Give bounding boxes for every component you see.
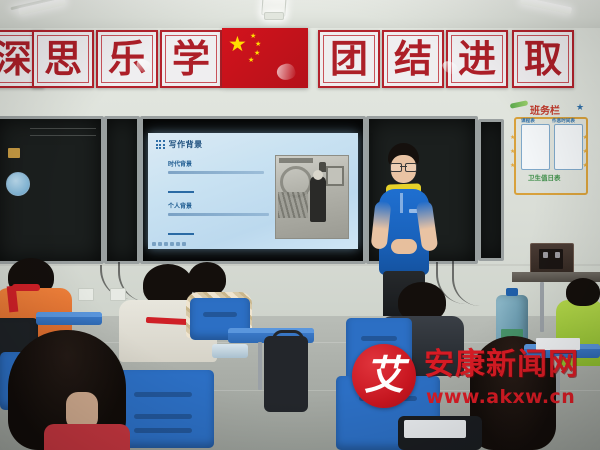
slogan-char-si: 思	[34, 32, 92, 86]
board-card	[554, 124, 583, 170]
slide-illustration	[275, 155, 349, 239]
slogan-char-xue: 学	[162, 32, 220, 86]
slogan-panel-4: 学	[160, 30, 222, 88]
slide-header: 写作背景	[156, 139, 203, 150]
desk-leg	[258, 342, 262, 390]
board-title: 班务栏	[530, 102, 560, 117]
illustration-caption	[279, 158, 313, 163]
grid-dots-icon	[156, 140, 165, 149]
table-leg	[540, 282, 544, 332]
slide-section-1: 时代背景	[168, 159, 280, 171]
blackboard-panel	[478, 119, 504, 261]
slogan-char-jie: 结	[384, 32, 442, 86]
illustration-figure-head	[313, 170, 323, 180]
watermark-site-name: 安康新闻网	[424, 350, 579, 380]
desk	[36, 312, 102, 325]
board-star-icon: ★	[583, 134, 588, 141]
board-star-icon: ★	[583, 148, 588, 155]
chinese-flag: ★ ★ ★ ★ ★	[222, 28, 308, 88]
wall-outlet	[110, 288, 126, 301]
shirt-placket	[400, 193, 403, 213]
section-divider	[168, 191, 194, 193]
section-text-line	[168, 213, 269, 216]
flag-star-small: ★	[248, 57, 254, 64]
duty-schedule-label: 卫生值日表	[528, 172, 561, 182]
slide-toolbar[interactable]	[152, 242, 186, 246]
desk-item	[212, 344, 248, 358]
toolbar-icon[interactable]	[182, 242, 186, 246]
red-scarf	[12, 284, 40, 291]
flag-star-small: ★	[250, 33, 256, 40]
slide-content: 写作背景 时代背景 个人背景	[148, 133, 358, 249]
wall-emblem-icon	[6, 172, 30, 196]
illustration-figure	[310, 176, 326, 222]
slogan-panel-7: 进	[446, 30, 508, 88]
class-duty-board: 班务栏 课程表 作息时间表 卫生值日表 ★ ★ ★ ★ ★ ★	[508, 100, 590, 218]
watermark-logo-glyph: 艾	[352, 344, 416, 408]
toolbar-icon[interactable]	[176, 242, 180, 246]
toolbar-icon[interactable]	[152, 242, 156, 246]
slogan-panel-5: 团	[318, 30, 380, 88]
ceiling-light-tube	[520, 0, 572, 14]
flag-star-small: ★	[255, 41, 261, 48]
dispenser-button[interactable]	[543, 252, 548, 258]
board-star-icon: ★	[510, 148, 515, 155]
slogan-panel-8: 取	[512, 30, 574, 88]
eyeglasses-icon	[390, 163, 417, 170]
ceiling	[0, 0, 600, 30]
wall-seam	[0, 264, 600, 266]
teacher-hands	[391, 239, 417, 254]
student-head	[566, 278, 600, 306]
slogan-char-qu: 取	[514, 32, 572, 86]
section-heading: 个人背景	[168, 201, 280, 210]
illustration-crowd	[278, 192, 308, 218]
slogan-panel-2: 思	[32, 30, 94, 88]
board-star-icon: ★	[510, 134, 515, 141]
slide-section-2: 个人背景	[168, 201, 280, 213]
watermark-url: www.akxw.cn	[426, 386, 575, 408]
toolbar-icon[interactable]	[170, 242, 174, 246]
student-head	[188, 262, 226, 296]
glare-reflection	[275, 61, 297, 82]
backpack-strap	[272, 330, 304, 350]
toolbar-icon[interactable]	[164, 242, 168, 246]
slogan-panel-6: 结	[382, 30, 444, 88]
section-heading: 时代背景	[168, 159, 280, 168]
wall-sticker	[8, 148, 20, 158]
notebook	[404, 420, 466, 438]
section-text-line	[168, 171, 264, 174]
slogan-char-tuan: 团	[320, 32, 378, 86]
ceiling-light-pendant-base	[264, 12, 284, 20]
board-star-icon: ★	[583, 162, 588, 169]
watermark: 艾 安康新闻网 www.akxw.cn	[352, 340, 596, 416]
slogan-char-jin: 进	[448, 32, 506, 86]
flag-star-large: ★	[228, 34, 247, 55]
student-red-top	[44, 424, 130, 450]
slide-title: 写作背景	[169, 139, 203, 150]
slogan-panel-3: 乐	[96, 30, 158, 88]
board-card	[521, 124, 550, 170]
toolbar-icon[interactable]	[158, 242, 162, 246]
wall-outlet	[78, 288, 94, 301]
blackboard-panel	[104, 116, 140, 264]
classroom-photo: 深 思 乐 学 ★ ★ ★ ★ ★ 团 结 进 取	[0, 0, 600, 450]
ceiling-light-tube	[18, 0, 66, 15]
section-divider	[168, 233, 194, 235]
bottle-cap	[506, 288, 518, 296]
illustration-frame	[326, 166, 344, 186]
flag-star-small: ★	[254, 50, 260, 57]
chalk-writing	[30, 122, 96, 138]
slogan-char-le: 乐	[98, 32, 156, 86]
dispenser-button[interactable]	[555, 252, 560, 258]
board-star-icon: ★	[510, 162, 515, 169]
